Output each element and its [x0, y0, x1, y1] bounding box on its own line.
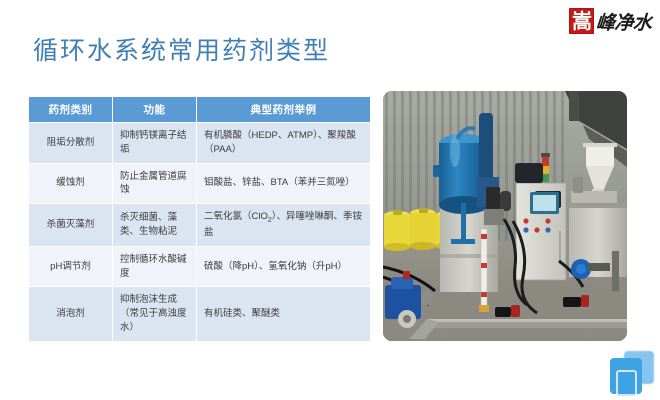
- logo-seal-icon: 嵩: [569, 8, 594, 34]
- column-header-function: 功能: [113, 97, 197, 123]
- column-header-category: 药剂类别: [29, 97, 113, 123]
- table-row: 杀菌灭藻剂 杀灭细菌、藻类、生物粘泥 二氧化氯（ClO2）、异噻唑啉酮、季铵盐: [29, 204, 371, 247]
- slide-canvas: 嵩 峰净水 循环水系统常用药剂类型 药剂类别 功能 典型药剂举例 阻垢分散剂 抑…: [0, 0, 660, 400]
- decoration-square-inner: [616, 370, 637, 396]
- cell-function: 杀灭细菌、藻类、生物粘泥: [113, 204, 197, 247]
- table-row: 缓蚀剂 防止金属管道腐蚀 钼酸盐、锌盐、BTA（苯并三氮唑）: [29, 163, 371, 204]
- table-row: 阻垢分散剂 抑制钙镁离子结垢 有机膦酸（HEDP、ATMP）、聚羧酸（PAA）: [29, 123, 371, 164]
- cell-category: 消泡剂: [29, 287, 113, 341]
- examples-prefix: 二氧化氯（ClO: [204, 211, 268, 222]
- equipment-photo-illustration: [383, 91, 627, 341]
- logo-wordmark: 峰净水: [596, 8, 653, 35]
- table-header-row: 药剂类别 功能 典型药剂举例: [29, 97, 371, 123]
- cell-category: pH调节剂: [29, 246, 113, 287]
- cell-examples: 有机膦酸（HEDP、ATMP）、聚羧酸（PAA）: [197, 123, 371, 164]
- cell-category: 杀菌灭藻剂: [29, 204, 113, 247]
- cell-function: 抑制钙镁离子结垢: [113, 123, 197, 164]
- cell-examples: 钼酸盐、锌盐、BTA（苯并三氮唑）: [197, 163, 371, 204]
- table-row: pH调节剂 控制循环水酸碱度 硫酸（降pH）、氢氧化钠（升pH）: [29, 246, 371, 287]
- decoration-square-front: [610, 358, 642, 394]
- company-logo: 嵩 峰净水: [569, 6, 652, 36]
- equipment-photo: [383, 91, 627, 341]
- chemical-types-table-wrapper: 药剂类别 功能 典型药剂举例 阻垢分散剂 抑制钙镁离子结垢 有机膦酸（HEDP、…: [28, 96, 370, 342]
- cell-examples: 二氧化氯（ClO2）、异噻唑啉酮、季铵盐: [197, 204, 371, 247]
- page-title: 循环水系统常用药剂类型: [33, 31, 330, 67]
- cell-function: 抑制泡沫生成（常见于高浊度水）: [113, 287, 197, 341]
- cell-category: 阻垢分散剂: [29, 123, 113, 164]
- cell-examples: 硫酸（降pH）、氢氧化钠（升pH）: [197, 246, 371, 287]
- cell-function: 控制循环水酸碱度: [113, 246, 197, 287]
- cell-category: 缓蚀剂: [29, 163, 113, 204]
- column-header-examples: 典型药剂举例: [197, 97, 371, 123]
- corner-decoration: [610, 351, 656, 395]
- cell-function: 防止金属管道腐蚀: [113, 163, 197, 204]
- table-row: 消泡剂 抑制泡沫生成（常见于高浊度水） 有机硅类、聚醚类: [29, 287, 371, 341]
- cell-examples: 有机硅类、聚醚类: [197, 287, 371, 341]
- chemical-types-table: 药剂类别 功能 典型药剂举例 阻垢分散剂 抑制钙镁离子结垢 有机膦酸（HEDP、…: [28, 96, 371, 342]
